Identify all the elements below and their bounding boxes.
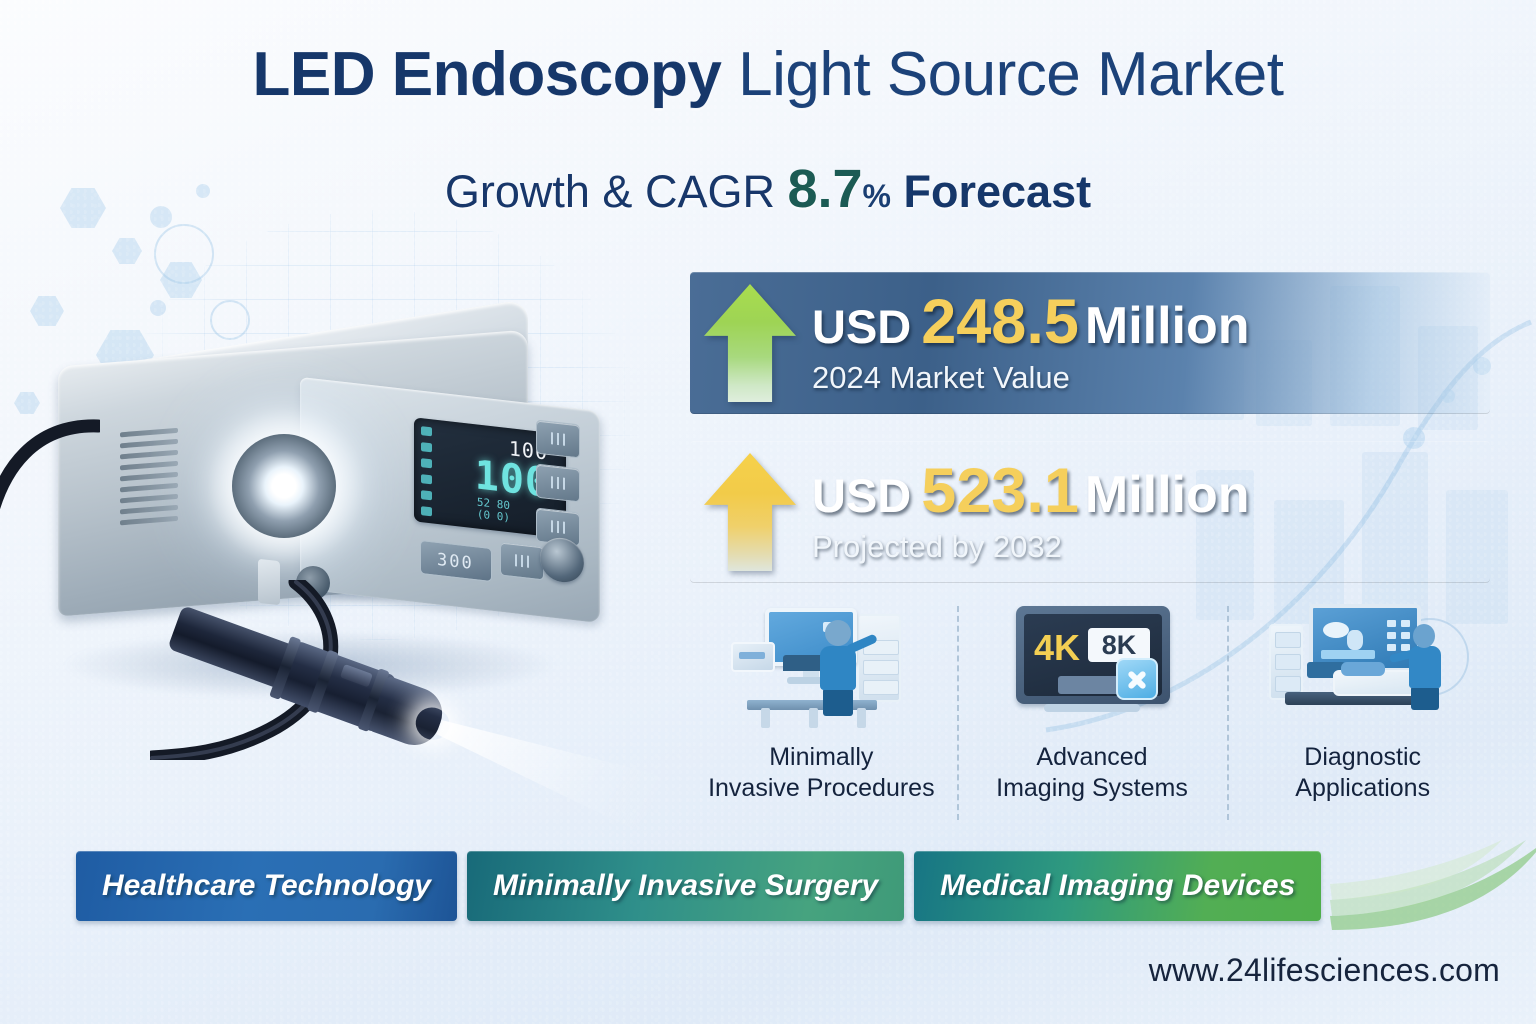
up-arrow-icon (704, 453, 796, 571)
stat-text-2024: USD248.5Million 2024 Market Value (806, 291, 1250, 396)
tag-label: Medical Imaging Devices (940, 869, 1295, 903)
device-button-2[interactable] (536, 463, 580, 502)
feature-row: Minimally Invasive Procedures 4K 8K Adva… (686, 596, 1498, 824)
patient-bed (1333, 670, 1417, 696)
display-4k-8k-icon: 4K 8K (992, 600, 1192, 728)
display-status-icons (421, 426, 432, 516)
display-screen: 4K 8K (1024, 614, 1162, 696)
market-value: 248.5 (921, 287, 1079, 357)
subtitle: Growth & CAGR 8.7% Forecast (0, 160, 1536, 219)
infographic-canvas: 100 100 52 80 (0 0) 300 (0, 0, 1536, 1024)
device-button-1[interactable] (536, 419, 580, 458)
stat-caption-2032: Projected by 2032 (812, 529, 1250, 565)
clinician-figure (820, 646, 856, 690)
tag-label: Minimally Invasive Surgery (493, 869, 878, 903)
page-title-bold: LED Endoscopy (253, 40, 722, 109)
value-unit: Million (1085, 297, 1250, 355)
cagr-percent-sign: % (863, 178, 891, 214)
workstation-unit (731, 642, 775, 672)
feature-diagnostic-applications: Diagnostic Applications (1227, 596, 1498, 824)
supply-rack (857, 614, 901, 702)
molecule-ring (154, 224, 214, 284)
tag-minimally-invasive-surgery[interactable]: Minimally Invasive Surgery (467, 851, 904, 921)
currency-label: USD (812, 300, 911, 353)
page-title-wrap: LED Endoscopy Light Source Market (0, 42, 1536, 107)
stat-text-2032: USD523.1Million Projected by 2032 (806, 460, 1250, 565)
molecule-dot (150, 300, 166, 316)
currency-label: USD (812, 469, 911, 522)
hexagon-shape (160, 262, 202, 298)
diagnostic-imaging-suite-icon (1263, 600, 1463, 728)
badge-4k: 4K (1034, 630, 1080, 666)
equipment-cabinet (1269, 624, 1303, 700)
tag-healthcare-technology[interactable]: Healthcare Technology (76, 851, 457, 921)
subtitle-wrap: Growth & CAGR 8.7% Forecast (0, 160, 1536, 219)
green-swoosh-decoration (1330, 838, 1536, 934)
fiber-connector-socket (296, 566, 330, 600)
hexagon-shape (112, 238, 142, 264)
stat-panel-2024: USD248.5Million 2024 Market Value (690, 272, 1490, 414)
feature-minimally-invasive: Minimally Invasive Procedures (686, 596, 957, 824)
device-vent-grille (120, 428, 180, 531)
up-arrow-icon (704, 284, 796, 402)
device-snowflake-button[interactable] (500, 541, 544, 580)
display-bezel: 4K 8K (1016, 606, 1170, 704)
subtitle-lead: Growth & CAGR (445, 166, 788, 217)
power-cable (0, 418, 100, 578)
display-mini-readout: 52 80 (0 0) (477, 496, 510, 524)
badge-8k: 8K (1102, 632, 1137, 659)
technician-figure (1409, 646, 1441, 688)
tag-ribbon-bar: Healthcare Technology Minimally Invasive… (76, 851, 1331, 921)
close-x-icon (1116, 658, 1158, 700)
display-stand (1044, 704, 1140, 712)
subtitle-tail: Forecast (891, 166, 1091, 217)
page-title: LED Endoscopy Light Source Market (0, 42, 1536, 107)
feature-advanced-imaging: 4K 8K Advanced Imaging Systems (957, 596, 1228, 824)
led-light-source-device-image: 100 100 52 80 (0 0) 300 (0, 330, 660, 890)
badge-8k-box: 8K (1088, 628, 1150, 662)
feature-label-diagnostic: Diagnostic Applications (1295, 742, 1430, 803)
tag-label: Healthcare Technology (102, 869, 431, 903)
value-unit: Million (1085, 466, 1250, 524)
feature-label-minimally-invasive: Minimally Invasive Procedures (708, 742, 935, 803)
page-title-regular: Light Source Market (721, 40, 1283, 109)
stat-caption-2024: 2024 Market Value (812, 360, 1250, 396)
clinician-workstation-icon (721, 600, 921, 728)
website-url[interactable]: www.24lifesciences.com (1149, 952, 1500, 989)
stat-headline-2032: USD523.1Million (812, 460, 1250, 523)
stat-headline-2024: USD248.5Million (812, 291, 1250, 354)
tag-medical-imaging-devices[interactable]: Medical Imaging Devices (914, 851, 1321, 921)
cagr-value: 8.7 (787, 159, 862, 219)
device-preset-label: 300 (437, 550, 474, 574)
light-output-port (232, 434, 336, 538)
feature-label-advanced-imaging: Advanced Imaging Systems (996, 742, 1188, 803)
hexagon-shape (30, 296, 64, 326)
stat-panel-2032: USD523.1Million Projected by 2032 (690, 441, 1490, 583)
market-value: 523.1 (921, 456, 1079, 526)
